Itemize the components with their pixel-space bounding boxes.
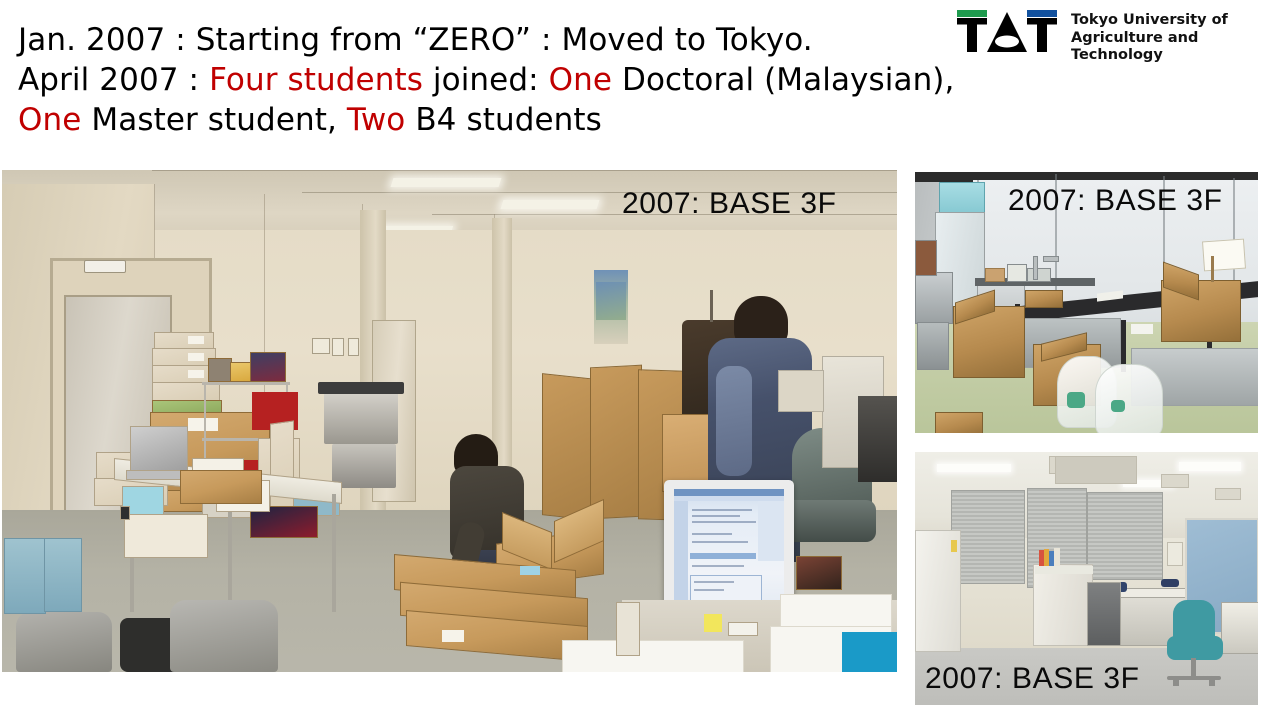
carton-sticker <box>520 566 540 575</box>
title-line-1: Jan. 2007 : Starting from “ZERO” : Moved… <box>18 20 958 60</box>
screen-selected-row <box>690 553 756 559</box>
gas-cylinder <box>915 240 937 276</box>
title-segment: B4 students <box>405 102 602 138</box>
table-leg <box>332 494 336 612</box>
photo-content: 2007: BASE 3F <box>915 172 1258 433</box>
title-segment-highlight: One <box>549 62 612 98</box>
faucet <box>1033 256 1038 280</box>
title-segment-highlight: Four students <box>209 62 423 98</box>
title-line-2: April 2007 : Four students joined: One D… <box>18 60 958 100</box>
ceiling-light <box>1179 462 1241 471</box>
ceiling-vent <box>1215 488 1241 500</box>
book <box>1054 548 1060 568</box>
partition-shelf <box>1035 566 1093 574</box>
leaning-panel <box>542 373 596 521</box>
recycle-bin <box>4 538 46 614</box>
paper-on-bench <box>1131 324 1153 334</box>
sign-post <box>1211 256 1214 282</box>
door-closer <box>84 260 126 273</box>
coat-rack-pole <box>710 290 713 322</box>
screen-text-line <box>694 589 724 591</box>
chair-caster <box>1209 678 1215 686</box>
wall-switch <box>312 338 330 354</box>
chair-caster <box>1173 678 1179 686</box>
desk-side-panel <box>1087 582 1121 646</box>
box-label <box>188 353 204 361</box>
item-on-desk <box>1161 579 1179 587</box>
title-segment: Master student, <box>81 102 347 138</box>
small-box-on-bench <box>985 268 1005 282</box>
ceiling-light <box>391 178 502 187</box>
photo-caption: 2007: BASE 3F <box>1008 184 1223 218</box>
partition-wall <box>1033 564 1093 646</box>
logo-university-name: Tokyo University of Agriculture and Tech… <box>1071 12 1261 65</box>
window-blind <box>1087 492 1163 580</box>
wire-shelf <box>202 382 290 385</box>
shelf-item <box>208 358 232 382</box>
photo-content: 2007: BASE 3F <box>915 452 1258 705</box>
university-logo: Tokyo University of Agriculture and Tech… <box>955 10 1267 56</box>
stacked-box <box>152 382 220 402</box>
screen-text-line <box>692 509 752 511</box>
screen-text-line <box>692 533 732 535</box>
cable <box>120 506 130 520</box>
server-tower <box>858 396 897 482</box>
title-segment-highlight: Two <box>347 102 405 138</box>
photo-content: 2007: BASE 3F <box>2 170 897 672</box>
ceiling-light <box>501 200 600 209</box>
photo-caption: 2007: BASE 3F <box>925 662 1140 696</box>
shelf-item <box>230 362 252 382</box>
carton-label <box>188 418 218 431</box>
office-chair-seat <box>1167 636 1223 660</box>
screen-text-line <box>692 565 744 567</box>
laptop-screen <box>130 426 188 474</box>
ac-ceiling-unit <box>1055 456 1137 484</box>
wall-switch <box>332 338 344 356</box>
slide-title-block: Jan. 2007 : Starting from “ZERO” : Moved… <box>18 20 958 140</box>
carton-label <box>442 630 464 642</box>
bottle <box>616 602 640 656</box>
mail-sorter <box>778 370 824 412</box>
logo-name-line-1: Tokyo University of <box>1071 12 1261 30</box>
tat-logo-mark-icon <box>955 10 1059 52</box>
carton-floor-foreground <box>935 412 983 433</box>
screen-text-line <box>694 581 734 583</box>
screen-text-line <box>692 541 748 543</box>
plastic-bag <box>1095 364 1163 433</box>
photo-lab-bench-room: 2007: BASE 3F <box>915 172 1258 433</box>
product-tray <box>124 514 208 558</box>
photo-caption: 2007: BASE 3F <box>622 187 837 221</box>
small-carton-on-table <box>1025 290 1063 308</box>
lab-machine <box>915 272 953 324</box>
title-segment: Jan. 2007 : Starting from “ZERO” : Moved… <box>18 22 813 58</box>
photo-print <box>796 556 842 590</box>
title-segment-highlight: One <box>18 102 81 138</box>
screen-titlebar <box>674 489 784 496</box>
paper-sign <box>1202 239 1246 272</box>
small-carton <box>180 470 262 504</box>
chair-back <box>16 612 112 672</box>
person-standing-arm <box>716 366 752 476</box>
lab-machine-base <box>917 322 949 370</box>
recycle-bin <box>44 538 82 612</box>
wall-poster-image <box>596 282 626 320</box>
lab-item <box>1007 264 1027 282</box>
mouse <box>728 622 758 636</box>
copier <box>324 388 398 444</box>
ceiling-seam <box>152 170 897 171</box>
wall-control-panel <box>1167 542 1183 566</box>
chair-back <box>170 600 278 672</box>
title-segment: April 2007 : <box>18 62 209 98</box>
logo-name-line-2: Agriculture and Technology <box>1071 30 1261 65</box>
screen-panel <box>758 501 784 561</box>
sticky-note <box>704 614 722 632</box>
title-segment: joined: <box>423 62 549 98</box>
leaning-panel <box>590 365 642 520</box>
lab-item <box>1027 268 1051 282</box>
box-label <box>188 370 204 378</box>
photo-empty-office-room: 2007: BASE 3F <box>915 452 1258 705</box>
wall-switch <box>348 338 359 356</box>
ceiling-vent <box>1161 474 1189 488</box>
screen-text-line <box>692 515 740 517</box>
blue-booklet <box>842 632 897 672</box>
fridge-sticker <box>951 540 957 552</box>
photo-office-room-unpacking: 2007: BASE 3F <box>2 170 897 672</box>
box-label <box>188 336 204 344</box>
paper-pile <box>562 640 744 672</box>
green-item-in-bag <box>1067 392 1085 408</box>
window-blind <box>951 490 1025 584</box>
shelf-item <box>250 352 286 382</box>
title-line-3: One Master student, Two B4 students <box>18 100 958 140</box>
title-segment: Doctoral (Malaysian), <box>612 62 954 98</box>
screen-text-line <box>692 521 756 523</box>
green-item-in-bag <box>1111 400 1125 412</box>
faucet-spout <box>1043 256 1059 262</box>
ceiling-light <box>937 464 1011 472</box>
side-counter <box>1221 602 1258 654</box>
copier-top <box>318 382 404 394</box>
